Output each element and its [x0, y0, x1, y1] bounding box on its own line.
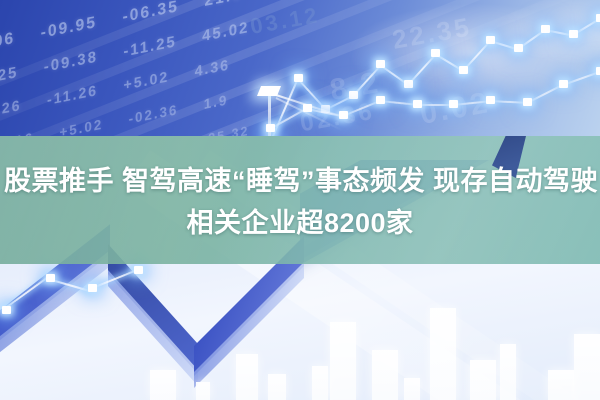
chart-data-point: [486, 36, 495, 44]
headline-line-2: 相关企业超8200家: [0, 202, 600, 244]
chart-line-segment: [417, 104, 454, 106]
chart-data-point: [559, 80, 568, 88]
chart-data-point: [596, 67, 600, 75]
bar-column: [150, 370, 176, 400]
bar-column: [430, 308, 456, 400]
news-banner: -0.952.06-09.95-06.3521.0-1.251.25-09.38…: [0, 0, 600, 400]
bar-column: [196, 382, 210, 400]
bar-column: [268, 374, 286, 400]
chart-data-point: [523, 98, 532, 106]
page-title: 股票推手 智驾高速“睡驾”事态频发 现存自动驾驶 相关企业超8200家: [0, 160, 600, 244]
chart-data-point: [404, 80, 413, 88]
bar-column: [312, 366, 328, 400]
chart-line-segment: [490, 100, 527, 104]
chart-data-point: [376, 60, 385, 68]
chart-data-point: [376, 96, 385, 104]
bar-column: [548, 370, 574, 400]
bar-column: [574, 334, 600, 400]
chart-data-point: [514, 44, 523, 52]
chart-data-point: [459, 66, 468, 74]
chart-data-point: [569, 30, 578, 38]
bar-column: [372, 350, 398, 400]
bar-column: [470, 360, 496, 400]
chart-data-point: [596, 14, 600, 22]
chart-line-segment: [563, 71, 600, 86]
chart-data-point: [349, 91, 358, 99]
chart-line-segment: [343, 100, 380, 117]
chart-data-point: [431, 49, 440, 57]
bar-column: [236, 354, 258, 400]
bar-column: [500, 344, 516, 400]
chart-line-segment: [380, 100, 417, 106]
bar-column: [330, 322, 356, 400]
chart-data-point: [486, 96, 495, 104]
chart-line-segment: [453, 100, 490, 106]
headline-line-1: 股票推手 智驾高速“睡驾”事态频发 现存自动驾驶: [0, 160, 600, 202]
chart-data-point: [294, 74, 303, 82]
chart-data-point: [449, 100, 458, 108]
chart-line-segment: [526, 84, 564, 104]
chart-data-point: [413, 100, 422, 108]
chart-data-point: [541, 25, 550, 33]
bar-column: [404, 378, 420, 400]
